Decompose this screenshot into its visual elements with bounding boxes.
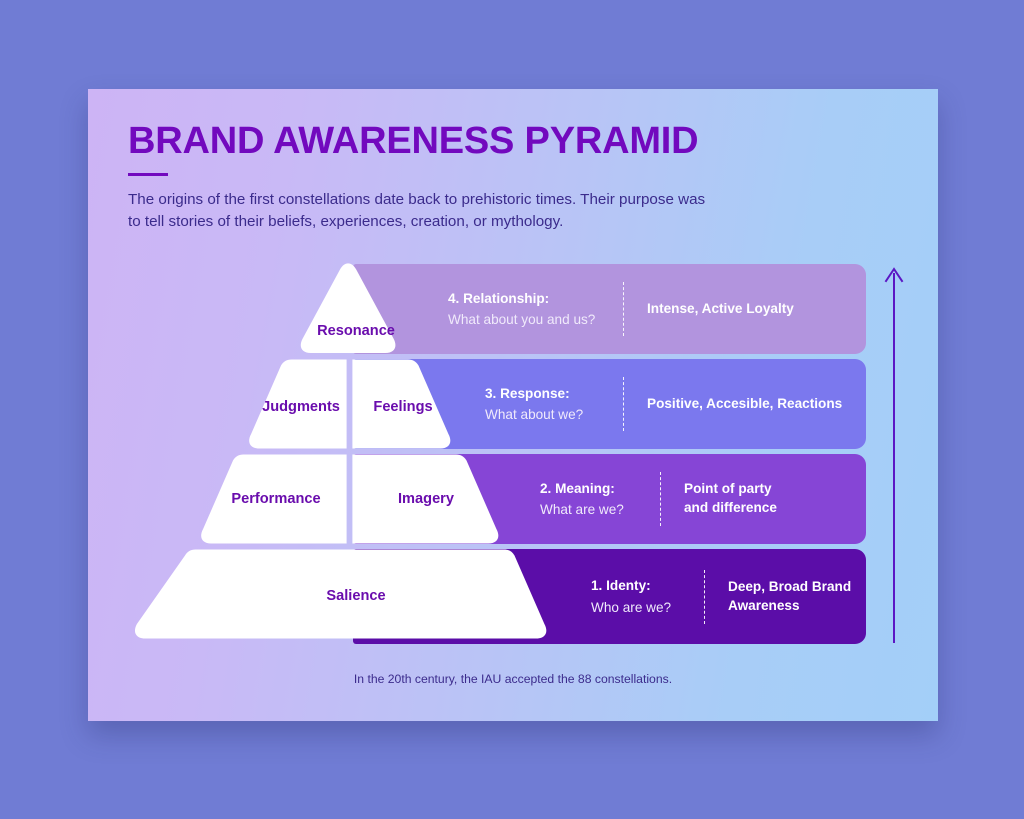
step-label-relationship: 4. Relationship: — [448, 288, 623, 309]
step-label-meaning: 2. Meaning: — [540, 478, 660, 499]
step-question-relationship: What about you and us? — [448, 309, 623, 330]
tier-divider-identy — [704, 570, 705, 624]
tier-text-meaning: 2. Meaning: What are we? Point of party … — [540, 454, 777, 544]
step-label-response: 3. Response: — [485, 383, 623, 404]
header: BRAND AWARENESS PYRAMID The origins of t… — [128, 122, 828, 232]
tier-text-identy: 1. Identy: Who are we? Deep, Broad Brand… — [591, 549, 851, 644]
tier-divider-response — [623, 377, 624, 431]
qa-block-identy: 1. Identy: Who are we? — [591, 575, 704, 617]
block-label-judgments: Judgments — [262, 399, 340, 415]
infographic-card: BRAND AWARENESS PYRAMID The origins of t… — [88, 89, 938, 721]
qa-block-relationship: 4. Relationship: What about you and us? — [448, 288, 623, 330]
block-label-feelings: Feelings — [373, 399, 432, 415]
tier-text-response: 3. Response: What about we? Positive, Ac… — [485, 359, 842, 449]
step-question-identy: Who are we? — [591, 597, 704, 618]
outcome-response: Positive, Accesible, Reactions — [647, 395, 842, 414]
subtitle-line-1: The origins of the first constellations … — [128, 189, 828, 211]
block-label-performance: Performance — [231, 491, 320, 507]
footer-caption: In the 20th century, the IAU accepted th… — [88, 672, 938, 686]
block-label-salience: Salience — [326, 588, 385, 604]
step-label-identy: 1. Identy: — [591, 575, 704, 596]
tier-text-relationship: 4. Relationship: What about you and us? … — [448, 264, 794, 354]
qa-block-response: 3. Response: What about we? — [485, 383, 623, 425]
block-label-imagery: Imagery — [398, 491, 454, 507]
page-title: BRAND AWARENESS PYRAMID — [128, 122, 828, 160]
outcome-identy: Deep, Broad Brand Awareness — [728, 578, 851, 616]
step-question-response: What about we? — [485, 404, 623, 425]
outcome-relationship: Intense, Active Loyalty — [647, 300, 794, 319]
block-label-resonance: Resonance — [317, 323, 395, 339]
arrow-up-icon — [883, 261, 905, 646]
title-divider — [128, 173, 168, 176]
outcome-meaning: Point of party and difference — [684, 480, 777, 518]
tier-divider-meaning — [660, 472, 661, 526]
step-question-meaning: What are we? — [540, 499, 660, 520]
subtitle-line-2: to tell stories of their beliefs, experi… — [128, 211, 828, 233]
tier-divider-relationship — [623, 282, 624, 336]
qa-block-meaning: 2. Meaning: What are we? — [540, 478, 660, 520]
